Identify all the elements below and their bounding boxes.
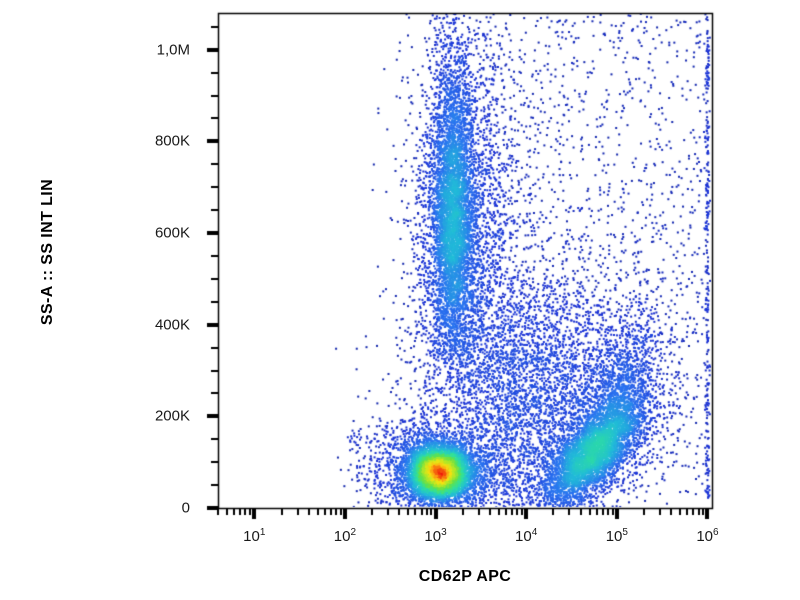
x-axis-tick-label: 101 bbox=[243, 528, 265, 545]
y-axis-tick-label: 200K bbox=[155, 408, 190, 425]
y-axis-tick-label: 400K bbox=[155, 316, 190, 333]
scatter-plot-canvas bbox=[0, 0, 800, 600]
x-axis-title: CD62P APC bbox=[218, 568, 712, 586]
y-axis-tick-label: 0 bbox=[182, 500, 190, 517]
flow-cytometry-figure: SS-A :: SS INT LIN CD62P APC 0200K400K60… bbox=[0, 0, 800, 600]
x-axis-tick-label: 104 bbox=[515, 528, 537, 545]
y-axis-tick-label: 600K bbox=[155, 225, 190, 242]
x-axis-tick-label: 106 bbox=[696, 528, 718, 545]
x-axis-tick-label: 105 bbox=[606, 528, 628, 545]
y-axis-tick-label: 800K bbox=[155, 133, 190, 150]
y-axis-title: SS-A :: SS INT LIN bbox=[39, 142, 57, 362]
x-axis-tick-label: 102 bbox=[334, 528, 356, 545]
x-axis-tick-label: 103 bbox=[424, 528, 446, 545]
y-axis-tick-label: 1,0M bbox=[157, 41, 190, 58]
